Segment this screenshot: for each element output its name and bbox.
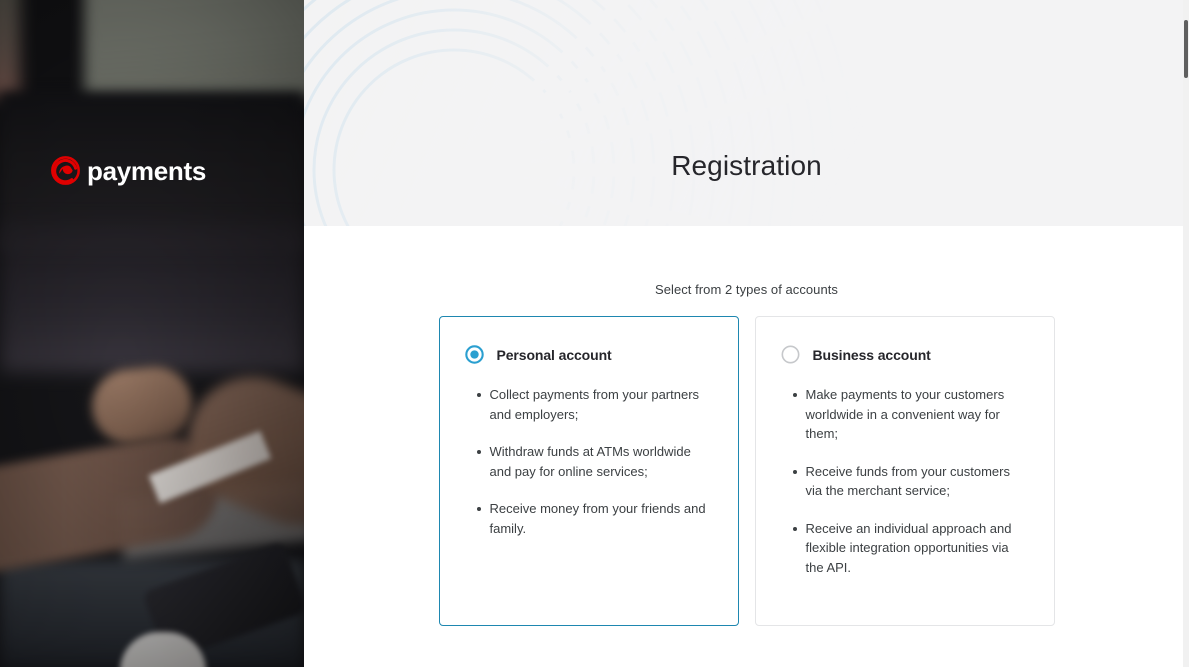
list-item: Receive an individual approach and flexi… <box>806 519 1030 578</box>
account-selection-section: Select from 2 types of accounts Personal… <box>304 226 1189 667</box>
list-item: Collect payments from your partners and … <box>490 385 714 424</box>
account-option-business-features: Make payments to your customers worldwid… <box>774 385 1036 577</box>
selection-subtitle: Select from 2 types of accounts <box>304 226 1189 297</box>
account-option-personal-features: Collect payments from your partners and … <box>458 385 720 538</box>
account-option-business-title: Business account <box>813 347 931 363</box>
account-option-personal-header[interactable]: Personal account <box>458 345 720 364</box>
radio-unselected-icon[interactable] <box>781 345 800 364</box>
account-type-options: Personal account Collect payments from y… <box>304 316 1189 626</box>
photo-vignette-overlay <box>0 0 304 667</box>
account-option-personal-title: Personal account <box>497 347 612 363</box>
account-option-business-header[interactable]: Business account <box>774 345 1036 364</box>
brand-logo: payments <box>50 155 206 186</box>
epayments-e-logo-icon <box>50 155 81 186</box>
list-item: Make payments to your customers worldwid… <box>806 385 1030 444</box>
account-option-personal[interactable]: Personal account Collect payments from y… <box>439 316 739 626</box>
vertical-scrollbar[interactable] <box>1183 0 1189 667</box>
concentric-chevron-watermark <box>304 0 864 226</box>
radio-selected-icon[interactable] <box>465 345 484 364</box>
registration-page: payments <box>0 0 1189 667</box>
account-option-business[interactable]: Business account Make payments to your c… <box>755 316 1055 626</box>
scrollbar-thumb[interactable] <box>1184 20 1188 78</box>
hero-photo-panel: payments <box>0 0 304 667</box>
brand-name: payments <box>87 158 206 184</box>
list-item: Withdraw funds at ATMs worldwide and pay… <box>490 442 714 481</box>
registration-content: Registration Select from 2 types of acco… <box>304 0 1189 667</box>
page-header: Registration <box>304 0 1189 226</box>
list-item: Receive money from your friends and fami… <box>490 499 714 538</box>
page-title: Registration <box>304 150 1189 182</box>
list-item: Receive funds from your customers via th… <box>806 462 1030 501</box>
